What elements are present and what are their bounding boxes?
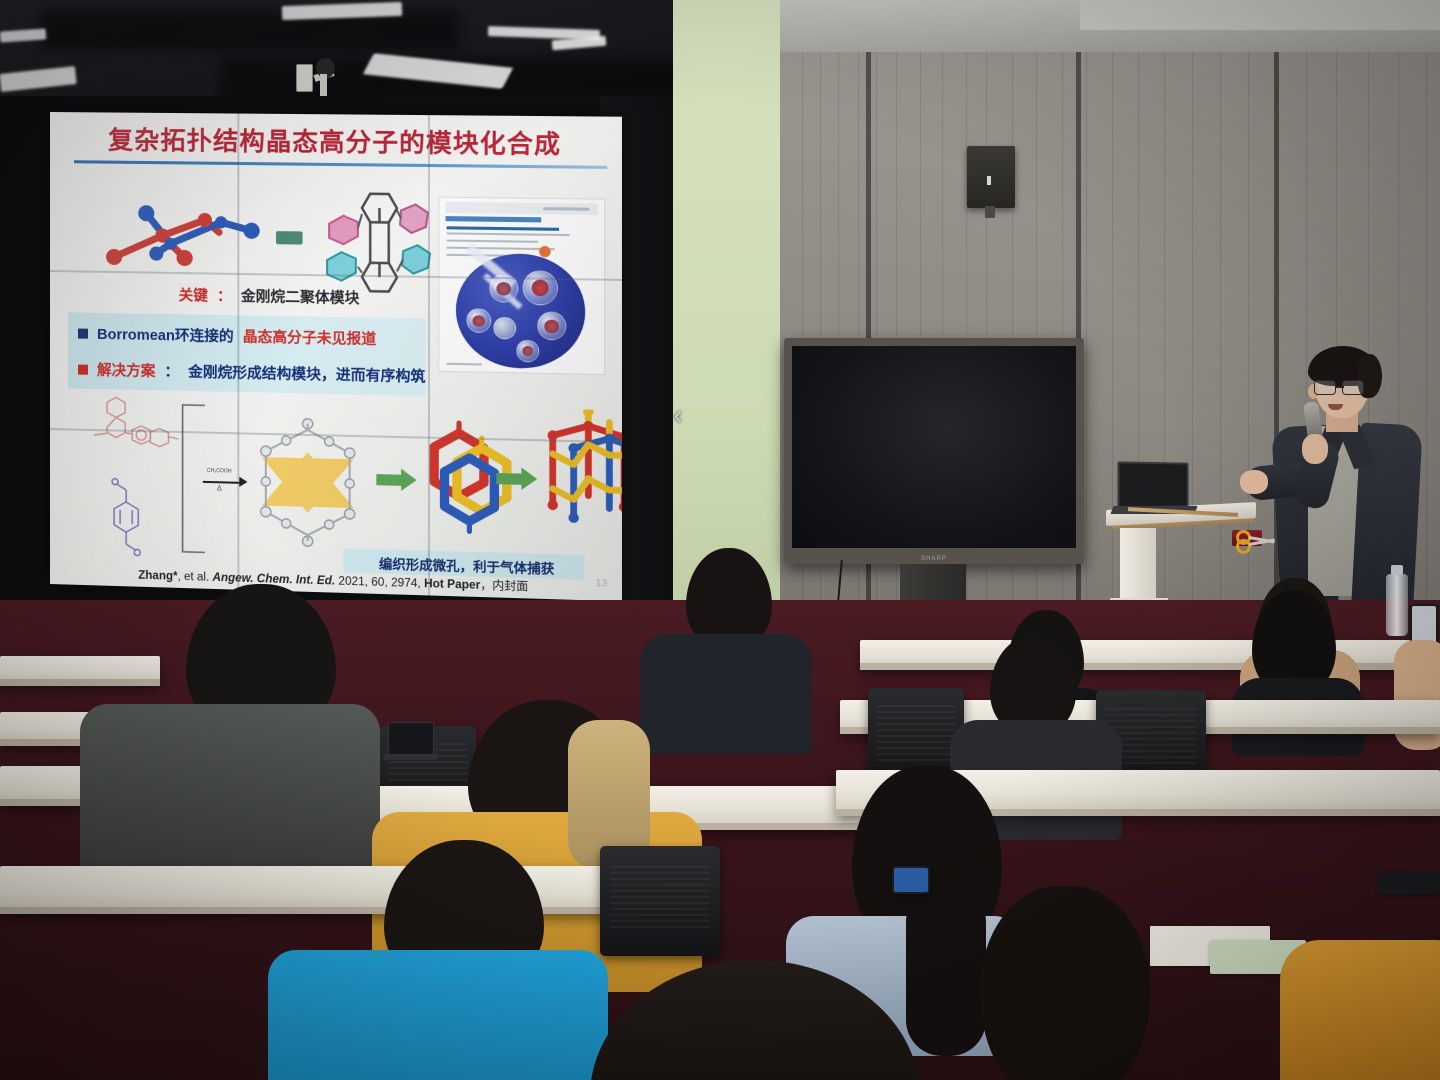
key-note-text: 金刚烷二聚体模块 — [241, 285, 360, 308]
journal-cover-image — [438, 197, 605, 375]
reaction-arrow: CH₃COOH Δ — [203, 468, 252, 495]
presenter — [1240, 346, 1440, 610]
key-note-prefix: 关键 — [179, 284, 208, 306]
lectern — [1106, 506, 1256, 602]
presenter-gesturing-hand — [1240, 470, 1268, 494]
bullet-1-lead: Borromean环连接的 — [97, 323, 234, 347]
citation-author: Zhang* — [138, 570, 177, 583]
display-brand-label: SHARP — [921, 556, 947, 562]
slide-title: 复杂拓扑结构晶态高分子的模块化合成 — [50, 120, 622, 162]
videowall-seam-vertical-1 — [237, 114, 239, 590]
citation-etal: , et al. — [178, 571, 213, 584]
phone-on-desk[interactable] — [1378, 872, 1440, 894]
process-arrow-1 — [376, 468, 417, 491]
adamantane-dimer-module-diagram — [313, 187, 447, 301]
attendee-grey-jacket — [80, 584, 380, 824]
lecture-hall-photo: 复杂拓扑结构晶态高分子的模块化合成 — [0, 0, 1440, 1080]
bullet-marker-red-icon — [78, 364, 88, 374]
reaction-conditions-bottom: Δ — [217, 485, 222, 492]
bullet-2-sep: ： — [164, 360, 179, 381]
title-underline — [74, 160, 607, 169]
key-note-sep: ： — [217, 285, 232, 306]
terephthalaldehyde-structure — [98, 475, 154, 559]
chevron-left-icon[interactable]: ‹ — [666, 400, 690, 430]
chair — [600, 846, 720, 956]
adamantane-amine-structure — [92, 395, 183, 457]
attendee-dark-hair-right — [920, 886, 1220, 1080]
process-arrow-2 — [496, 467, 538, 491]
equals-symbol-box — [276, 231, 303, 245]
attendee-foreground-head — [560, 960, 980, 1080]
citation-tag: Hot Paper — [424, 578, 480, 592]
glasses-icon — [1314, 380, 1372, 395]
presenter-laptop[interactable] — [1112, 462, 1196, 514]
presenter-hand-holding-mic — [1302, 434, 1328, 464]
slide-page-number: 13 — [596, 578, 608, 590]
wall-speaker-icon — [967, 146, 1015, 208]
flat-panel-display[interactable]: SHARP — [784, 338, 1084, 564]
bullet-1-highlight: 晶态高分子未见报道 — [243, 325, 376, 349]
3d-framework-structure — [538, 409, 622, 547]
ceiling-trim-upper — [1080, 0, 1440, 30]
videowall-seam-vertical-2 — [428, 115, 430, 595]
bullet-2-lead: 解决方案 — [97, 359, 155, 381]
slide-key-note: 关键：金刚烷二聚体模块 — [179, 284, 360, 308]
bullet-marker-navy-icon — [78, 328, 88, 338]
attendee-orange-sweater — [1280, 940, 1440, 1080]
presentation-slide: 复杂拓扑结构晶态高分子的模块化合成 — [50, 112, 622, 601]
reaction-conditions-top: CH₃COOH — [207, 468, 232, 475]
presentation-video-wall[interactable]: 复杂拓扑结构晶态高分子的模块化合成 — [50, 112, 622, 601]
citation-suffix: ，内封面 — [480, 580, 528, 594]
attendee-cyan-hoodie — [268, 840, 598, 1080]
water-bottle — [1386, 574, 1408, 636]
display-screen — [792, 346, 1076, 548]
